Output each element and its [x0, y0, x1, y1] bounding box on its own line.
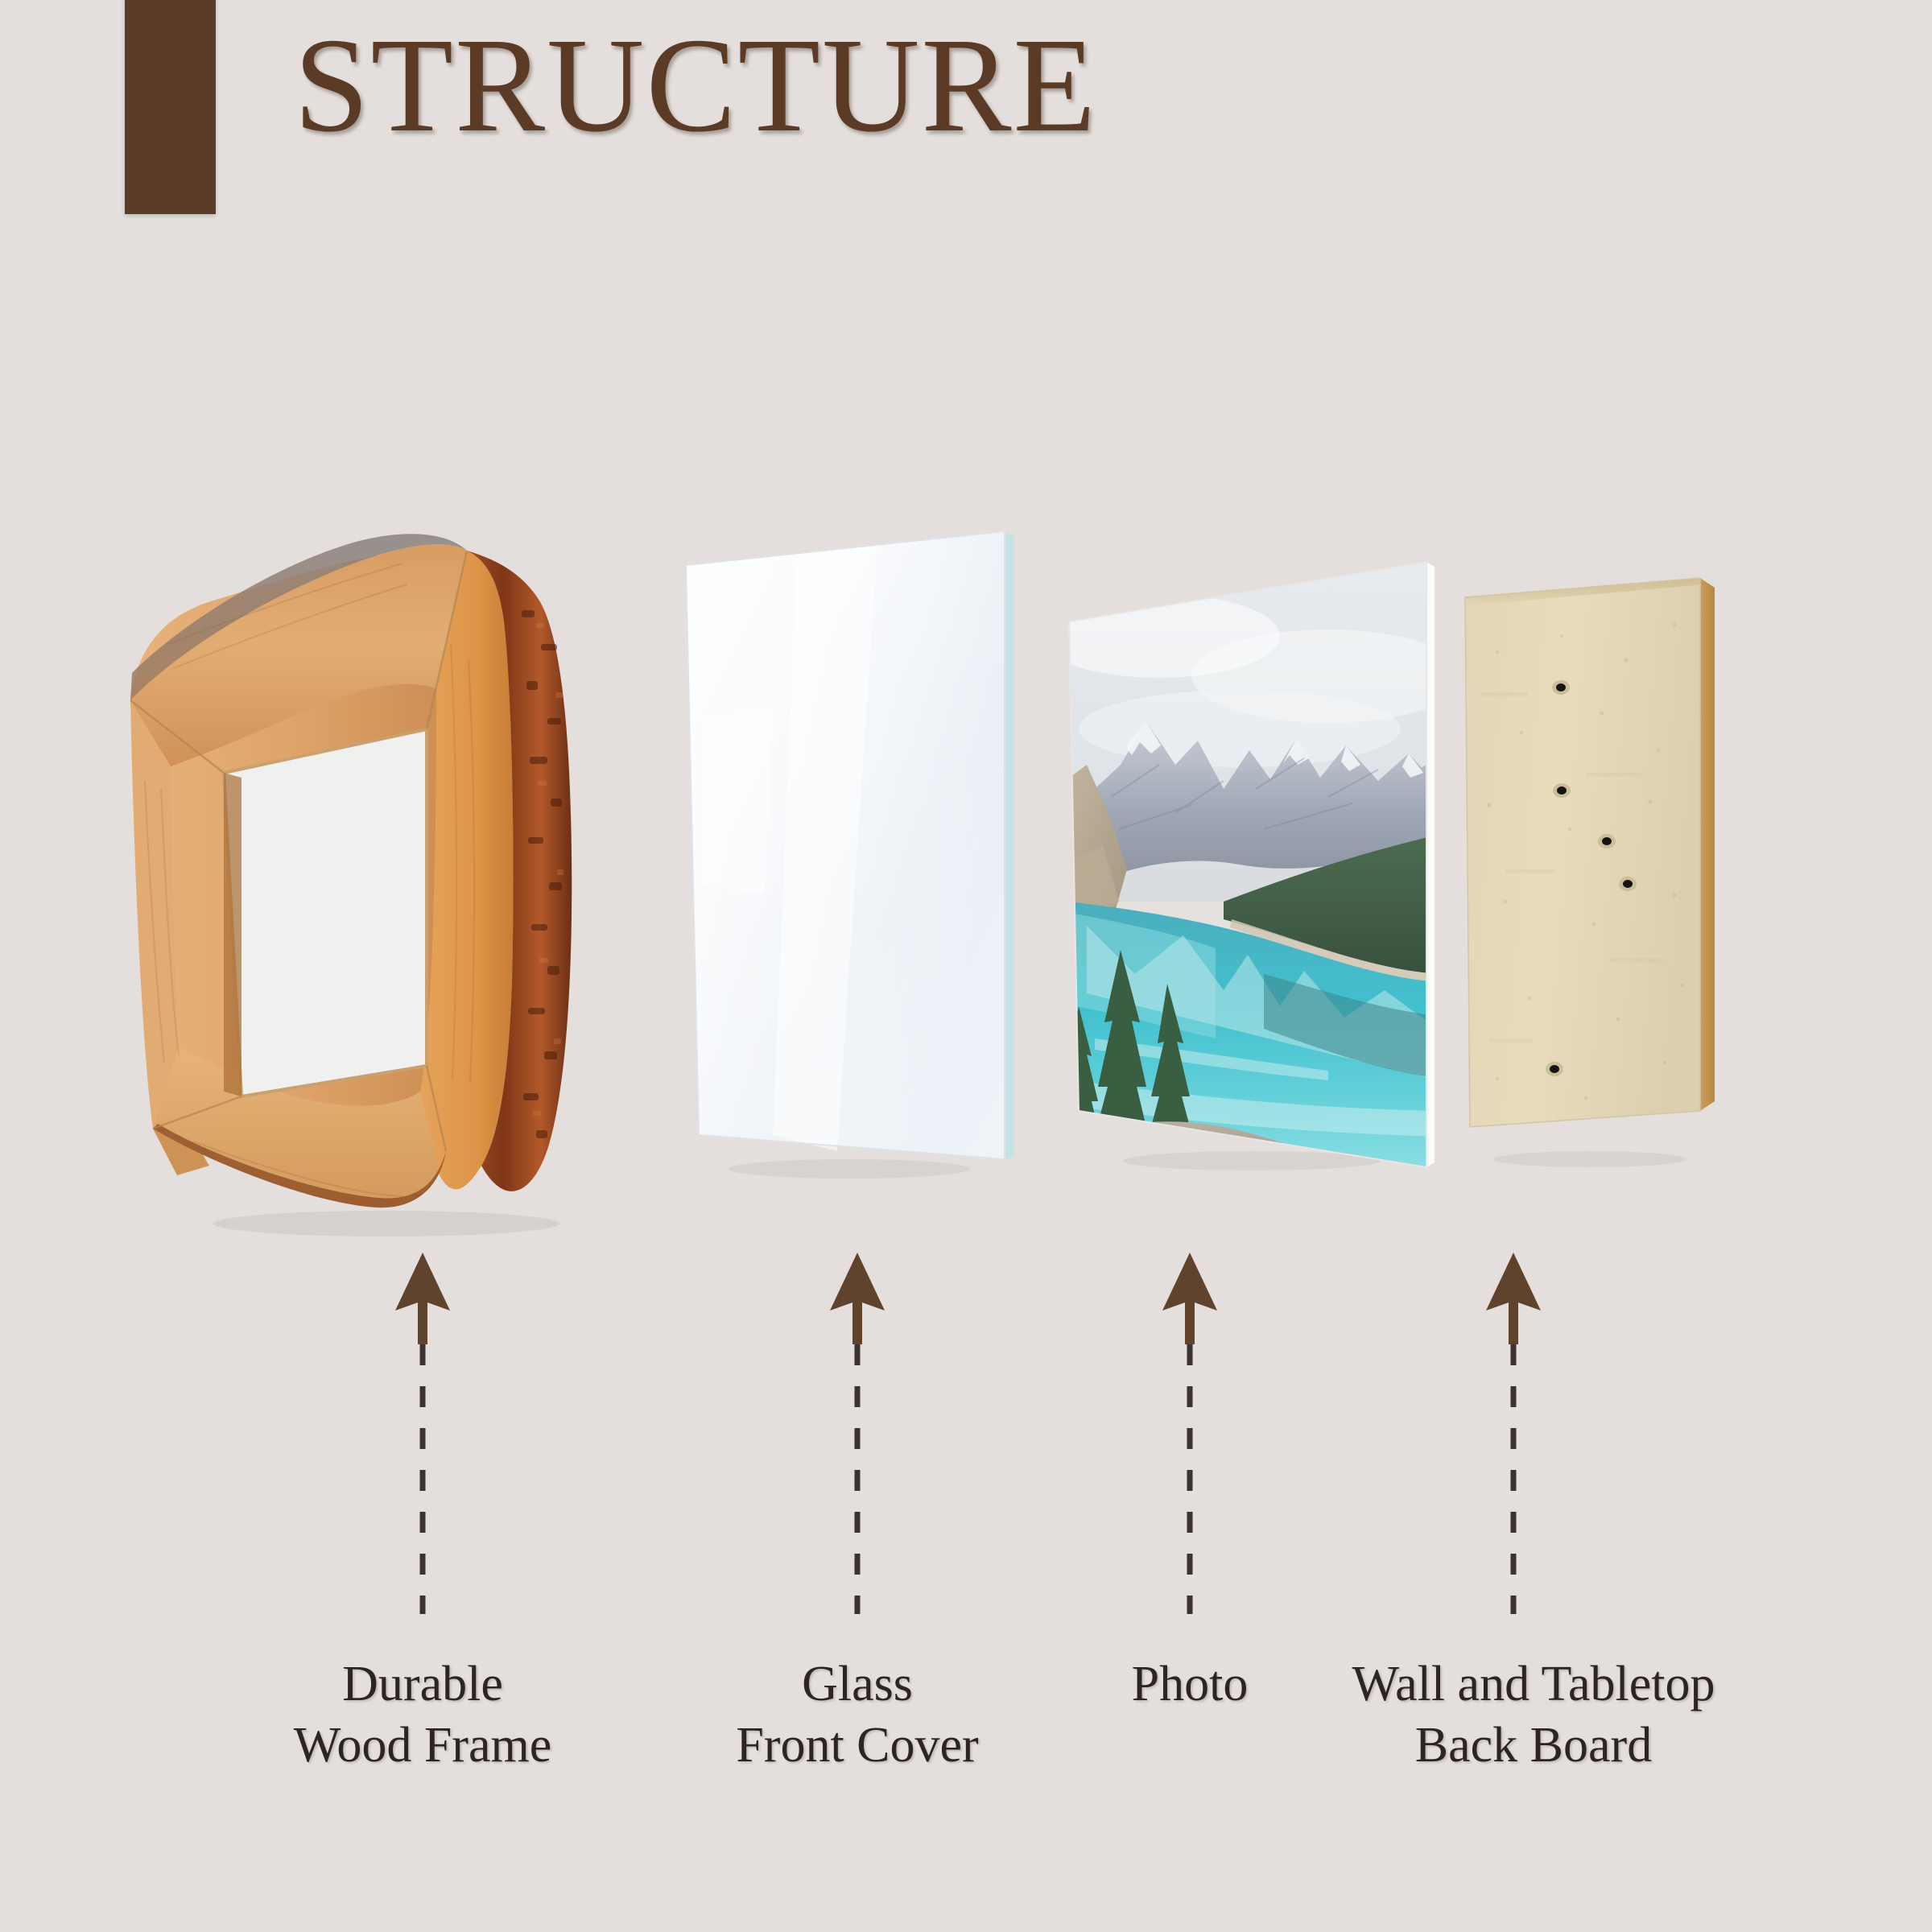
leader-wood-frame [390, 1248, 455, 1626]
caption-wood-frame: Durable Wood Frame [294, 1654, 551, 1776]
caption-line-2: Wood Frame [294, 1715, 551, 1777]
mountain-lake-photo-icon [1063, 523, 1441, 1207]
mdf-back-board-icon [1449, 563, 1739, 1175]
leader-back-board [1481, 1248, 1546, 1626]
wood-frame-part[interactable] [121, 402, 668, 1256]
back-board-part[interactable] [1449, 563, 1739, 1175]
caption-photo: Photo [1132, 1654, 1249, 1715]
exploded-parts-row [0, 0, 1932, 1256]
photo-print-part[interactable] [1063, 523, 1441, 1207]
caption-line-2: Back Board [1352, 1715, 1715, 1777]
caption-back-board: Wall and Tabletop Back Board [1352, 1654, 1715, 1776]
up-arrow-icon [390, 1248, 455, 1626]
up-arrow-icon [1481, 1248, 1546, 1626]
up-arrow-icon [825, 1248, 890, 1626]
leader-photo [1158, 1248, 1222, 1626]
caption-line-2: Front Cover [736, 1715, 978, 1777]
glass-sheet-part[interactable] [676, 515, 1022, 1191]
caption-line-1: Durable [342, 1657, 503, 1711]
slide-canvas: STRUCTURE [0, 0, 1932, 1932]
caption-line-1: Glass [802, 1657, 913, 1711]
up-arrow-icon [1158, 1248, 1222, 1626]
caption-line-1: Photo [1132, 1657, 1249, 1711]
leader-glass [825, 1248, 890, 1626]
caption-glass: Glass Front Cover [736, 1654, 978, 1776]
glass-sheet-icon [676, 515, 1022, 1191]
caption-line-1: Wall and Tabletop [1352, 1657, 1715, 1711]
wood-picture-frame-icon [121, 402, 668, 1256]
